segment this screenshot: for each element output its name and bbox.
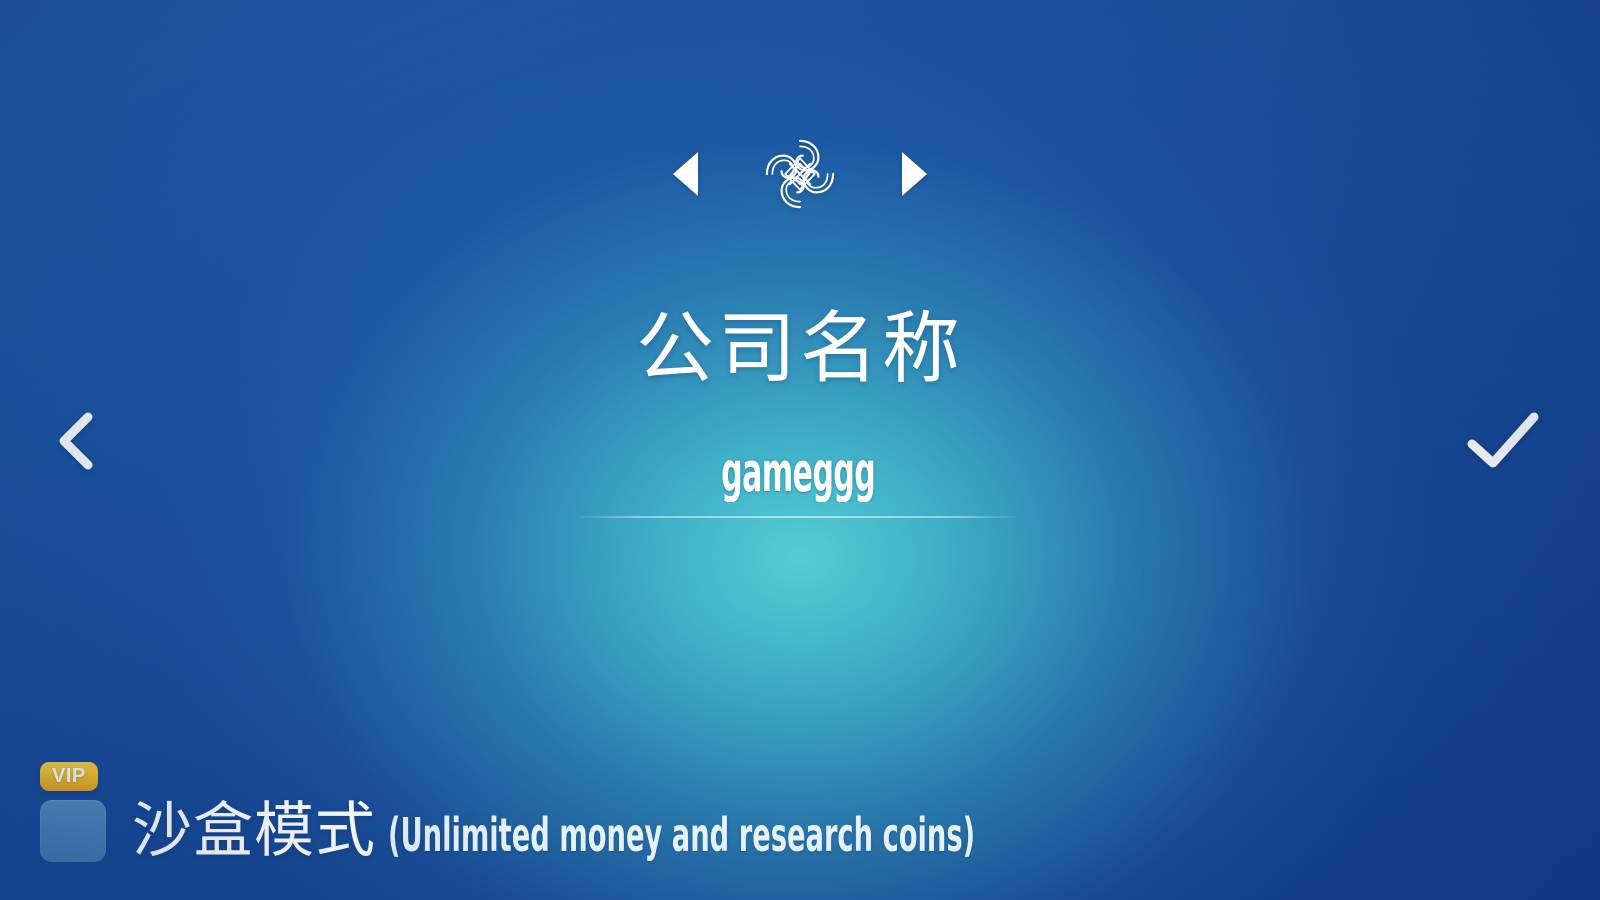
vip-badge: VIP xyxy=(40,762,98,791)
sandbox-mode-checkbox[interactable] xyxy=(40,800,106,862)
triangle-right-icon[interactable] xyxy=(902,152,927,196)
company-name-input[interactable] xyxy=(663,445,933,502)
sandbox-mode-label: 沙盒模式 xyxy=(132,801,376,861)
sandbox-row[interactable]: 沙盒模式 (Unlimited money and research coins… xyxy=(40,800,1278,862)
sandbox-labels: 沙盒模式 (Unlimited money and research coins… xyxy=(132,801,1278,861)
page-title: 公司名称 xyxy=(0,308,1600,390)
company-name-field xyxy=(580,445,1016,518)
sandbox-mode-description: (Unlimited money and research coins) xyxy=(388,812,975,858)
celtic-knot-emblem[interactable] xyxy=(754,128,846,220)
chevron-left-icon[interactable] xyxy=(44,404,106,478)
triangle-left-icon[interactable] xyxy=(673,152,698,196)
check-icon[interactable] xyxy=(1462,404,1544,478)
field-underline xyxy=(580,516,1016,518)
company-name-setup-screen: 公司名称 VIP 沙盒模式 (Unlimited money and resea… xyxy=(0,0,1600,900)
sandbox-mode-option: VIP 沙盒模式 (Unlimited money and research c… xyxy=(40,762,1278,862)
emblem-selector xyxy=(0,128,1600,220)
